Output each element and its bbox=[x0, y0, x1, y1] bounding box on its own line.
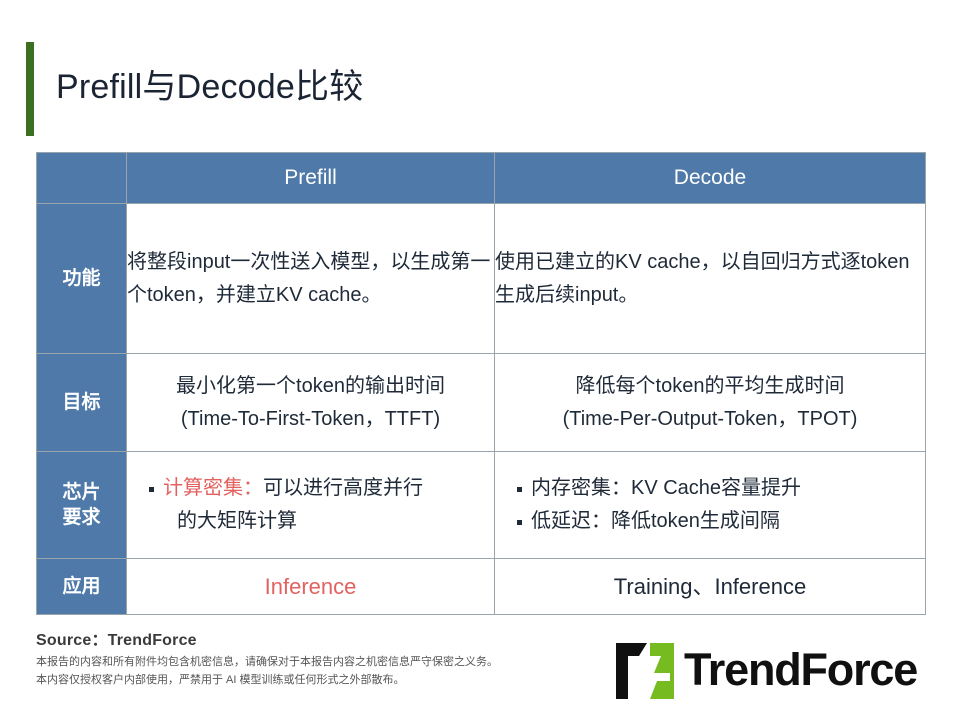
cell-goal-prefill-line1: 最小化第一个token的输出时间 bbox=[127, 370, 494, 403]
trendforce-logo-mark-icon bbox=[614, 640, 676, 702]
disclaimer-line-1: 本报告的内容和所有附件均包含机密信息，请确保对于本报告内容之机密信息严守保密之义… bbox=[36, 653, 498, 671]
table-row: 应用 Inference Training、Inference bbox=[37, 559, 926, 615]
cell-application-prefill: Inference bbox=[127, 559, 495, 615]
comparison-table: Prefill Decode 功能 将整段input一次性送入模型，以生成第一个… bbox=[36, 152, 926, 615]
page-title: Prefill与Decode比较 bbox=[56, 62, 756, 112]
title-accent-bar bbox=[26, 42, 34, 136]
trendforce-logo-text: TrendForce bbox=[684, 644, 917, 696]
table-header-row: Prefill Decode bbox=[37, 153, 926, 204]
row-label-application: 应用 bbox=[37, 559, 127, 615]
trendforce-logo: TrendForce bbox=[614, 638, 934, 704]
row-label-function: 功能 bbox=[37, 204, 127, 354]
list-item: 内存密集：KV Cache容量提升 bbox=[517, 472, 925, 505]
source-label: Source：TrendForce bbox=[36, 626, 197, 650]
cell-chip-prefill: 计算密集：可以进行高度并行 的大矩阵计算 bbox=[127, 452, 495, 559]
table-row: 芯片 要求 计算密集：可以进行高度并行 的大矩阵计算 内存密集：KV Cache… bbox=[37, 452, 926, 559]
header-corner-cell bbox=[37, 153, 127, 204]
cell-goal-prefill-line2: (Time-To-First-Token，TTFT) bbox=[127, 403, 494, 436]
table-row: 功能 将整段input一次性送入模型，以生成第一个token，并建立KV cac… bbox=[37, 204, 926, 354]
table-row: 目标 最小化第一个token的输出时间 (Time-To-First-Token… bbox=[37, 354, 926, 452]
list-item: 计算密集：可以进行高度并行 的大矩阵计算 bbox=[149, 472, 494, 538]
row-label-chip-line1: 芯片 bbox=[37, 480, 126, 505]
cell-goal-prefill: 最小化第一个token的输出时间 (Time-To-First-Token，TT… bbox=[127, 354, 495, 452]
slide-root: Prefill与Decode比较 TrendForce Prefill Deco… bbox=[0, 0, 960, 720]
bullet-list-decode: 内存密集：KV Cache容量提升 低延迟：降低token生成间隔 bbox=[495, 472, 925, 538]
header-prefill: Prefill bbox=[127, 153, 495, 204]
row-label-chip-requirement: 芯片 要求 bbox=[37, 452, 127, 559]
bullet-highlight: 计算密集： bbox=[163, 477, 263, 499]
cell-goal-decode: 降低每个token的平均生成时间 (Time-Per-Output-Token，… bbox=[495, 354, 926, 452]
cell-function-decode: 使用已建立的KV cache，以自回归方式逐token生成后续input。 bbox=[495, 204, 926, 354]
bullet-rest: 可以进行高度并行 bbox=[263, 477, 423, 499]
cell-goal-decode-line1: 降低每个token的平均生成时间 bbox=[495, 370, 925, 403]
row-label-goal: 目标 bbox=[37, 354, 127, 452]
cell-function-prefill: 将整段input一次性送入模型，以生成第一个token，并建立KV cache。 bbox=[127, 204, 495, 354]
disclaimer: 本报告的内容和所有附件均包含机密信息，请确保对于本报告内容之机密信息严守保密之义… bbox=[36, 653, 498, 689]
bullet-list-prefill: 计算密集：可以进行高度并行 的大矩阵计算 bbox=[127, 472, 494, 538]
cell-goal-decode-line2: (Time-Per-Output-Token，TPOT) bbox=[495, 403, 925, 436]
cell-chip-decode: 内存密集：KV Cache容量提升 低延迟：降低token生成间隔 bbox=[495, 452, 926, 559]
bullet-continuation: 的大矩阵计算 bbox=[163, 505, 494, 538]
cell-application-decode: Training、Inference bbox=[495, 559, 926, 615]
list-item: 低延迟：降低token生成间隔 bbox=[517, 505, 925, 538]
header-decode: Decode bbox=[495, 153, 926, 204]
row-label-chip-line2: 要求 bbox=[37, 505, 126, 530]
disclaimer-line-2: 本内容仅授权客户内部使用，严禁用于 AI 模型训练或任何形式之外部散布。 bbox=[36, 671, 498, 689]
